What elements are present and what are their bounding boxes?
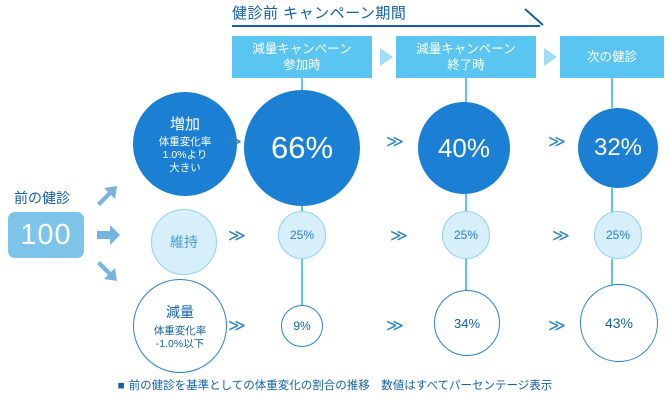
circle-connector — [465, 259, 467, 292]
row-chevron-icon: ≫ — [228, 316, 246, 336]
triangle-right-icon — [544, 48, 557, 66]
row-chevron-icon: ≫ — [228, 226, 246, 246]
row-chevron-icon: ≫ — [386, 316, 404, 336]
category-title: 減量 — [166, 302, 194, 322]
data-circle-decrease: 9% — [281, 305, 323, 347]
category-sub-line2: 1.0%より — [163, 149, 208, 162]
header-line2: 終了時 — [447, 57, 485, 73]
data-circle-decrease: 43% — [580, 284, 658, 362]
footer-legend: ■前の健診を基準としての体重変化の割合の推移 数値はすべてパーセンテージ表示 — [0, 377, 670, 393]
row-chevron-icon: ≫ — [552, 226, 570, 246]
category-circle-decrease: 減量 体重変化率 -1.0%以下 — [133, 279, 227, 373]
data-circle-increase: 40% — [418, 102, 510, 194]
category-circle-maintain: 維持 — [151, 209, 217, 275]
data-circle-increase: 32% — [578, 108, 658, 188]
data-circle-maintain: 25% — [594, 211, 642, 259]
footer-text: 前の健診を基準としての体重変化の割合の推移 数値はすべてパーセンテージ表示 — [129, 380, 553, 392]
category-sub-line1: 体重変化率 — [159, 136, 212, 149]
arrow-right-icon — [95, 222, 121, 248]
row-chevron-icon: ≫ — [548, 132, 566, 152]
category-sub-line2: -1.0%以下 — [156, 338, 204, 351]
header-connector — [611, 78, 613, 108]
data-circle-decrease: 34% — [434, 290, 500, 356]
campaign-period-line — [232, 25, 540, 27]
row-chevron-icon: ≫ — [386, 132, 404, 152]
header-box-campaign-start[interactable]: 減量キャンペーン 参加時 — [232, 36, 372, 78]
circle-connector — [611, 188, 613, 213]
row-chevron-icon: ≫ — [390, 226, 408, 246]
header-line2: 参加時 — [283, 57, 321, 73]
header-box-campaign-end[interactable]: 減量キャンペーン 終了時 — [396, 36, 536, 78]
data-circle-maintain: 25% — [442, 211, 490, 259]
header-line1: 減量キャンペーン — [416, 41, 515, 57]
legend-marker-icon: ■ — [118, 380, 125, 392]
period-arrow-icon — [524, 8, 544, 26]
baseline-value-box: 100 — [8, 212, 84, 258]
circle-connector — [611, 259, 613, 286]
header-line1: 減量キャンペーン — [252, 41, 351, 57]
data-circle-maintain: 25% — [278, 211, 326, 259]
header-connector — [465, 78, 467, 104]
arrow-up-right-icon — [95, 183, 121, 209]
category-title: 維持 — [170, 232, 198, 252]
campaign-period-label: 健診前 キャンペーン期間 — [232, 2, 406, 23]
category-sub-line3: 大きい — [169, 162, 201, 175]
category-sub-line1: 体重変化率 — [154, 325, 207, 338]
header-line1: 次の健診 — [587, 49, 637, 65]
arrow-down-right-icon — [95, 258, 121, 284]
triangle-right-icon — [380, 48, 393, 66]
category-circle-increase: 増加 体重変化率 1.0%より 大きい — [133, 92, 237, 196]
header-box-next-checkup[interactable]: 次の健診 — [560, 36, 664, 78]
category-title: 増加 — [170, 113, 200, 134]
row-chevron-icon: ≫ — [548, 316, 566, 336]
row-chevron-icon: ≫ — [224, 132, 242, 152]
previous-checkup-label: 前の健診 — [14, 188, 70, 208]
circle-connector — [301, 259, 303, 307]
data-circle-increase: 66% — [244, 90, 360, 206]
